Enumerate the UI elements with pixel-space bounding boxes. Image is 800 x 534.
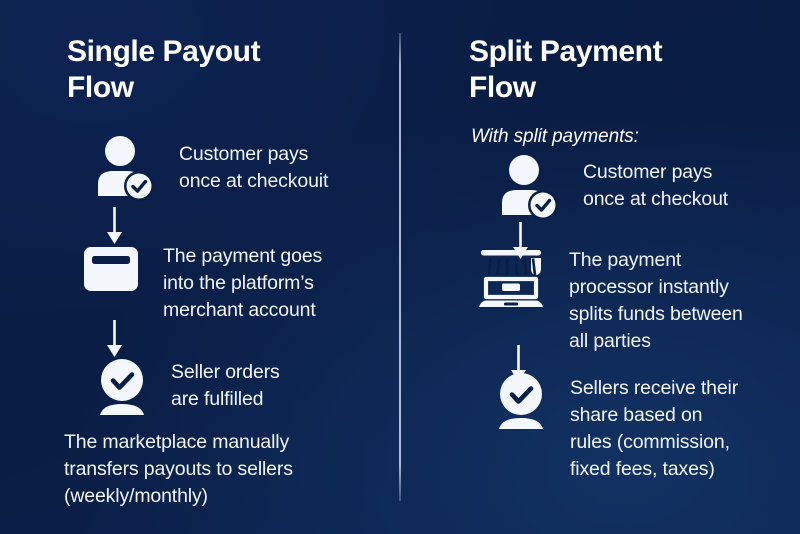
right-step-3: Sellers receive their share based on rul… <box>494 372 738 483</box>
right-step-3-label: Sellers receive their share based on rul… <box>570 375 738 483</box>
customer-verified-icon <box>95 136 157 202</box>
split-payment-flow-column: Split Payment Flow With split payments: … <box>401 0 800 534</box>
storefront-icon <box>477 248 545 310</box>
left-column-footnote: The marketplace manually transfers payou… <box>64 429 394 510</box>
right-column-subtitle: With split payments: <box>471 124 639 150</box>
left-step-1: Customer pays once at checkouit <box>95 136 328 202</box>
single-payout-flow-column: Single Payout Flow Customer pays once at… <box>0 0 399 534</box>
left-step-2-label: The payment goes into the platform’s mer… <box>163 243 322 324</box>
left-step-2: The payment goes into the platform’s mer… <box>83 245 322 324</box>
right-step-2-label: The payment processor instantly splits f… <box>569 247 743 355</box>
right-step-1-label: Customer pays once at checkout <box>583 159 728 213</box>
down-arrow-icon <box>104 207 126 245</box>
down-arrow-icon <box>104 320 126 358</box>
left-step-1-label: Customer pays once at checkouit <box>179 141 328 195</box>
left-step-3: Seller orders are fulfilled <box>95 358 280 416</box>
infographic-canvas: Single Payout Flow Customer pays once at… <box>0 0 800 534</box>
customer-verified-icon <box>499 155 561 221</box>
right-step-1: Customer pays once at checkout <box>499 155 728 221</box>
left-step-3-label: Seller orders are fulfilled <box>171 359 280 413</box>
seller-payout-icon <box>494 372 548 430</box>
left-column-heading: Single Payout Flow <box>67 34 367 106</box>
order-fulfilled-icon <box>95 358 149 416</box>
right-step-2: The payment processor instantly splits f… <box>477 248 743 355</box>
credit-card-icon <box>83 245 139 293</box>
right-column-heading: Split Payment Flow <box>469 34 769 106</box>
